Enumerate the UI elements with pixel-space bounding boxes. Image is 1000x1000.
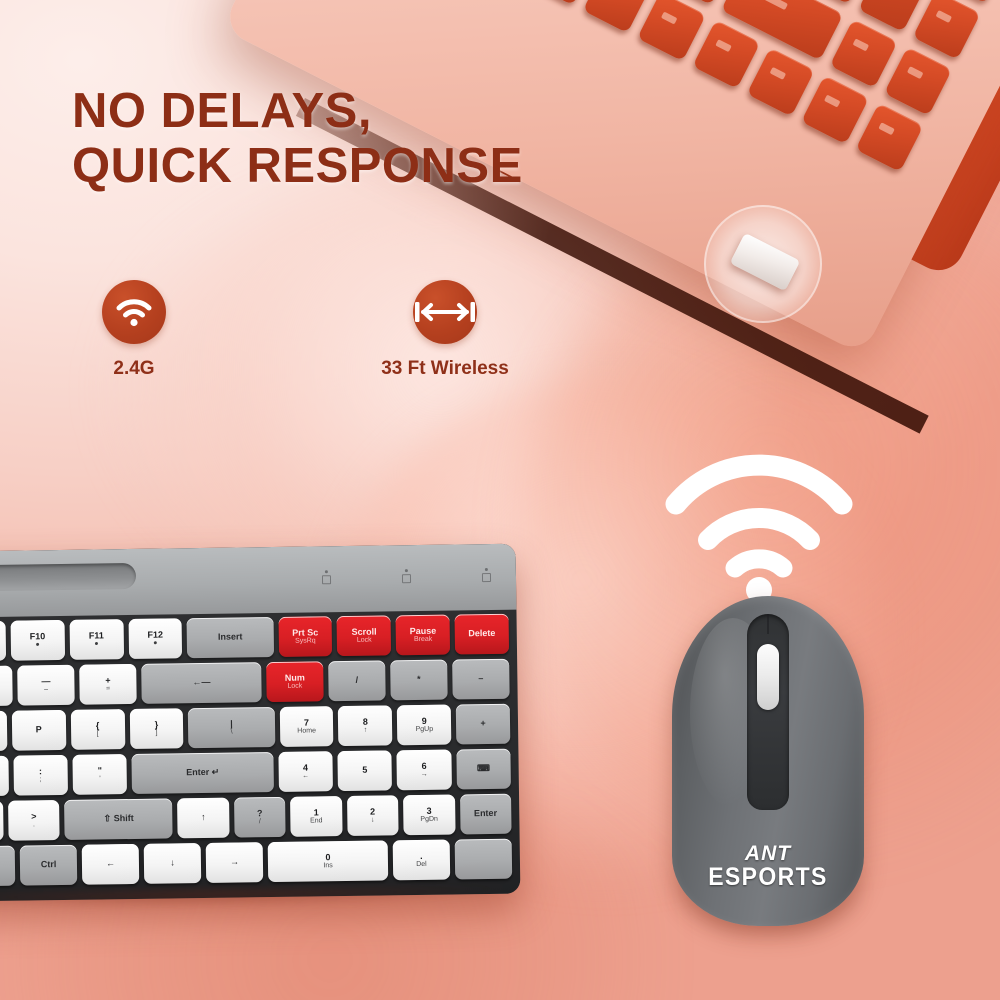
keyboard-key[interactable]: .Del xyxy=(393,840,451,881)
key-label: Num xyxy=(285,673,305,683)
led-indicator-icon xyxy=(480,568,492,584)
keyboard-key[interactable]: Prt ScSysRq xyxy=(278,616,332,657)
key-label: { xyxy=(96,721,100,730)
feature-icon-circle xyxy=(102,280,166,344)
key-label: – xyxy=(478,674,483,684)
keyboard-key[interactable]: Insert xyxy=(187,617,274,658)
key-sublabel: Del xyxy=(416,861,427,868)
keyboard-row: IOP{[}]|\7Home8↑9PgUp+ xyxy=(0,704,510,753)
keyboard-key[interactable]: ← xyxy=(82,844,140,885)
key-label: ↓ xyxy=(170,859,175,868)
key-label: — xyxy=(41,677,50,687)
laptop-key xyxy=(884,47,952,116)
keyboard-key[interactable]: 7Home xyxy=(279,706,333,747)
key-label: P xyxy=(36,726,42,736)
wifi-signal-icon xyxy=(664,442,854,602)
key-label: + xyxy=(105,676,110,686)
key-label: ? xyxy=(257,809,263,819)
keyboard-key[interactable]: O xyxy=(0,711,7,752)
key-label: ⌨ xyxy=(477,764,490,774)
device-slot-groove xyxy=(0,563,136,592)
feature-icon-circle xyxy=(413,280,477,344)
keyboard-key[interactable]: "' xyxy=(72,754,127,795)
keyboard-key[interactable]: * xyxy=(390,660,448,701)
headline-line-2: QUICK RESPONSE xyxy=(72,139,632,194)
keyboard-key[interactable]: → xyxy=(206,842,264,883)
keyboard-device-holder-bar xyxy=(0,544,516,619)
key-label: Pause xyxy=(410,626,437,636)
keyboard-key[interactable]: ↑ xyxy=(177,798,229,839)
keyboard-key[interactable]: 1End xyxy=(290,796,342,837)
wireless-keyboard: F8●F9●F10●F11●F12●InsertPrt ScSysRqScrol… xyxy=(0,544,520,903)
key-label: Enter ↵ xyxy=(186,768,219,778)
key-sublabel: ↓ xyxy=(371,817,375,824)
feature-label: 2.4G xyxy=(113,358,154,380)
keyboard-row: M<,>.⇧ Shift↑?/1End2↓3PgDnEnter xyxy=(0,794,512,843)
mouse-scroll-wheel xyxy=(757,644,779,710)
keyboard-key[interactable]: )0 xyxy=(0,666,13,707)
keyboard-key[interactable]: Delete xyxy=(455,614,509,655)
laptop-key xyxy=(583,0,651,33)
mouse-seam xyxy=(767,614,769,634)
keyboard-key[interactable]: :; xyxy=(13,755,68,796)
keyboard-key[interactable]: P xyxy=(12,710,66,751)
key-label: 5 xyxy=(362,766,367,776)
laptop-key xyxy=(855,103,923,172)
key-sublabel: SysRq xyxy=(295,637,316,645)
key-sublabel: Lock xyxy=(287,683,302,691)
brand-name-esports: ESPORTS xyxy=(680,864,857,890)
key-label: " xyxy=(98,766,102,775)
laptop-key xyxy=(474,0,597,6)
key-sublabel: – xyxy=(44,686,48,693)
keyboard-key[interactable]: F9● xyxy=(0,621,6,662)
wifi-icon xyxy=(115,297,153,327)
key-label: 2 xyxy=(370,807,375,817)
keyboard-key[interactable]: ScrollLock xyxy=(337,615,391,656)
keyboard-key[interactable]: L xyxy=(0,756,9,797)
usb-dongle-group xyxy=(704,205,844,335)
key-label: F12 xyxy=(147,630,163,640)
keyboard-key[interactable]: 8↑ xyxy=(338,705,392,746)
key-label: 3 xyxy=(426,806,431,816)
key-label: → xyxy=(230,858,239,868)
keyboard-key[interactable]: fn xyxy=(0,846,15,887)
keyboard-key[interactable]: / xyxy=(328,660,386,701)
key-sublabel: PgDn xyxy=(420,816,438,824)
key-label: | xyxy=(230,719,233,728)
key-label: 6 xyxy=(422,761,427,771)
keyboard-key[interactable]: PauseBreak xyxy=(396,615,450,656)
keyboard-row: F8●F9●F10●F11●F12●InsertPrt ScSysRqScrol… xyxy=(0,614,509,663)
keyboard-key[interactable]: 5 xyxy=(337,750,392,791)
key-label: + xyxy=(480,719,485,729)
key-sublabel: = xyxy=(106,685,110,692)
key-label: 9 xyxy=(422,716,427,726)
keyboard-key[interactable]: }] xyxy=(129,708,183,749)
key-sublabel: Ins xyxy=(323,862,332,869)
key-label: ⇧ Shift xyxy=(104,814,134,824)
keyboard-row: KL:;"'Enter ↵4←56→⌨ xyxy=(0,749,511,798)
keyboard-key[interactable]: Enter xyxy=(460,794,512,835)
key-sublabel: ● xyxy=(94,640,98,647)
keyboard-key[interactable]: 6→ xyxy=(397,750,452,791)
key-sublabel: \ xyxy=(231,729,233,736)
keyboard-key[interactable]: ←— xyxy=(141,662,261,704)
page-title: NO DELAYS, QUICK RESPONSE xyxy=(72,84,632,194)
key-label: Scroll xyxy=(352,627,377,637)
key-sublabel: Lock xyxy=(357,637,372,645)
brand-logo: ANT ESPORTS xyxy=(672,843,864,890)
laptop-key xyxy=(801,75,869,144)
keyboard-key[interactable]: Enter ↵ xyxy=(132,752,274,794)
keyboard-key[interactable]: |\ xyxy=(188,707,275,748)
led-indicator-icon xyxy=(320,570,332,586)
key-label: 8 xyxy=(363,717,368,727)
wireless-signal-graphic xyxy=(664,442,854,602)
key-label: ←— xyxy=(192,678,210,688)
keyboard-key[interactable]: ⌨ xyxy=(456,749,511,790)
product-poster: NO DELAYS, QUICK RESPONSE 2.4G xyxy=(0,0,1000,1000)
laptop-key xyxy=(829,19,897,88)
key-sublabel: PgUp xyxy=(416,726,434,734)
keyboard-row: AltfnCtrl←↓→0Ins.Del xyxy=(0,839,512,888)
key-label: F10 xyxy=(30,632,46,642)
keyboard-key[interactable]: F11● xyxy=(69,619,123,660)
laptop-key xyxy=(746,47,814,116)
key-label: 0 xyxy=(325,853,330,863)
keyboard-key[interactable]: 3PgDn xyxy=(403,794,455,835)
key-label: : xyxy=(39,767,42,776)
key-label: 4 xyxy=(303,763,308,773)
key-label: Enter xyxy=(474,809,497,819)
key-sublabel: End xyxy=(310,817,323,825)
key-sublabel: ] xyxy=(156,730,158,737)
key-sublabel: Home xyxy=(297,727,316,735)
keyboard-key[interactable]: Ctrl xyxy=(20,845,78,886)
feature-range: 33 Ft Wireless xyxy=(350,280,540,380)
keyboard-key[interactable]: 0Ins xyxy=(268,840,388,882)
keyboard-key[interactable]: 2↓ xyxy=(347,795,399,836)
keyboard-key[interactable]: F10● xyxy=(10,620,64,661)
key-sublabel: [ xyxy=(97,731,99,738)
key-label: 1 xyxy=(314,808,319,818)
led-indicator-icon xyxy=(400,569,412,585)
keyboard-key[interactable]: 4← xyxy=(278,751,333,792)
mouse-body: ANT ESPORTS xyxy=(672,596,864,926)
key-label: ← xyxy=(106,860,115,870)
key-label: ↑ xyxy=(201,813,206,822)
laptop-key xyxy=(912,0,980,60)
key-sublabel: ' xyxy=(99,775,100,782)
laptop-key xyxy=(692,20,760,89)
key-sublabel: ← xyxy=(302,773,309,780)
laptop-key xyxy=(637,0,705,61)
keyboard-key[interactable]: ↓ xyxy=(144,843,202,884)
feature-badges: 2.4G 33 Ft Wireless xyxy=(74,280,540,380)
keyboard-key[interactable]: + xyxy=(456,704,510,745)
key-label: . xyxy=(420,852,423,861)
keyboard-key[interactable]: NumLock xyxy=(266,661,324,702)
keyboard-key[interactable]: += xyxy=(79,664,137,705)
keyboard-key[interactable]: —– xyxy=(17,665,75,706)
keyboard-key-area: F8●F9●F10●F11●F12●InsertPrt ScSysRqScrol… xyxy=(0,614,512,885)
wireless-mouse: ANT ESPORTS xyxy=(672,596,864,926)
keyboard-key[interactable]: {[ xyxy=(70,709,124,750)
key-label: Ctrl xyxy=(41,860,57,870)
distance-arrow-icon xyxy=(414,299,476,325)
keyboard-indicator-leds xyxy=(320,568,492,586)
feature-24g: 2.4G xyxy=(74,280,194,380)
keyboard-key[interactable]: ⇧ Shift xyxy=(64,798,173,840)
key-label: > xyxy=(31,812,36,822)
key-sublabel: → xyxy=(421,771,428,778)
key-label: / xyxy=(356,676,359,685)
keyboard-key[interactable]: <, xyxy=(0,801,4,842)
key-label: * xyxy=(417,675,421,684)
keyboard-key[interactable] xyxy=(455,839,513,880)
feature-label: 33 Ft Wireless xyxy=(381,358,509,380)
keyboard-key[interactable]: – xyxy=(452,659,510,700)
key-sublabel: ● xyxy=(153,640,157,647)
key-label: Insert xyxy=(218,633,243,643)
key-sublabel: ● xyxy=(35,641,39,648)
key-label: Prt Sc xyxy=(292,628,318,638)
headline-line-1: NO DELAYS, xyxy=(72,84,372,138)
keyboard-key[interactable]: >. xyxy=(8,800,60,841)
keyboard-row: (9)0—–+=←—NumLock/*– xyxy=(0,659,510,708)
key-sublabel: Break xyxy=(414,636,432,644)
key-label: 7 xyxy=(304,718,309,728)
keyboard-key[interactable]: ?/ xyxy=(234,797,286,838)
keyboard-key[interactable]: F12● xyxy=(128,618,182,659)
key-label: Delete xyxy=(468,629,495,639)
key-sublabel: ; xyxy=(40,776,42,783)
brand-name-ant: ANT xyxy=(672,843,864,864)
key-sublabel: / xyxy=(259,818,261,825)
key-sublabel: . xyxy=(33,821,35,828)
key-label: } xyxy=(155,720,159,729)
key-sublabel: ↑ xyxy=(364,727,368,734)
keyboard-key[interactable]: 9PgUp xyxy=(397,705,451,746)
keyboard-shell: F8●F9●F10●F11●F12●InsertPrt ScSysRqScrol… xyxy=(0,544,520,903)
key-label: F11 xyxy=(89,631,104,641)
